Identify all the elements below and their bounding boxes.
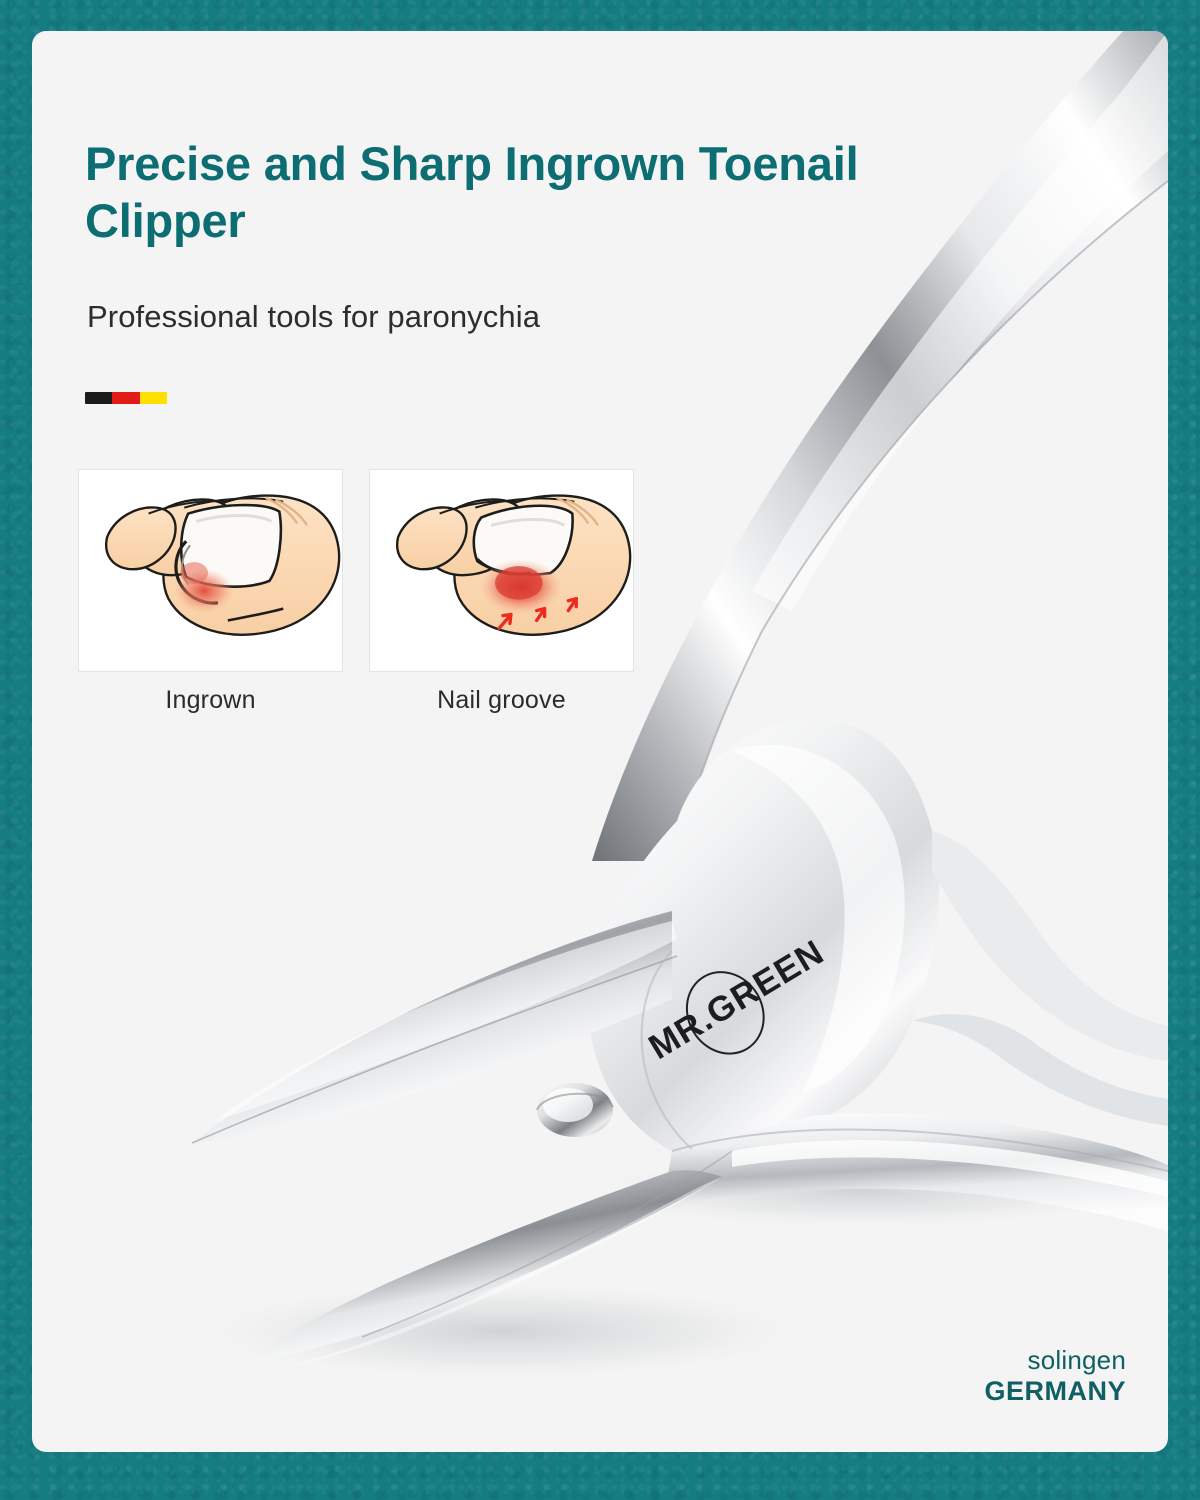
- nail-groove-illustration-icon: [369, 469, 634, 672]
- brand-logo-stamp: MR.GREEN: [622, 891, 869, 1111]
- flag-stripe-gold: [140, 392, 167, 404]
- thumbnail-caption: Nail groove: [369, 686, 634, 715]
- ingrown-toenail-illustration-icon: [78, 469, 343, 672]
- origin-country: GERMANY: [984, 1376, 1126, 1408]
- promo-banner: MR.GREEN Precise and Sharp Ingrown Toena…: [0, 0, 1200, 1500]
- origin-city: solingen: [984, 1345, 1126, 1376]
- flag-stripe-black: [85, 392, 112, 404]
- list-item: Ingrown: [78, 469, 343, 715]
- origin-label: solingen GERMANY: [984, 1345, 1126, 1408]
- page-title: Precise and Sharp Ingrown Toenail Clippe…: [85, 135, 945, 250]
- page-subtitle: Professional tools for paronychia: [87, 299, 540, 335]
- condition-thumbnail-list: Ingrown: [78, 469, 634, 715]
- german-flag-accent-icon: [85, 392, 167, 404]
- flag-stripe-red: [112, 392, 139, 404]
- thumbnail-caption: Ingrown: [78, 686, 343, 715]
- list-item: Nail groove: [369, 469, 634, 715]
- product-card: MR.GREEN Precise and Sharp Ingrown Toena…: [32, 31, 1168, 1452]
